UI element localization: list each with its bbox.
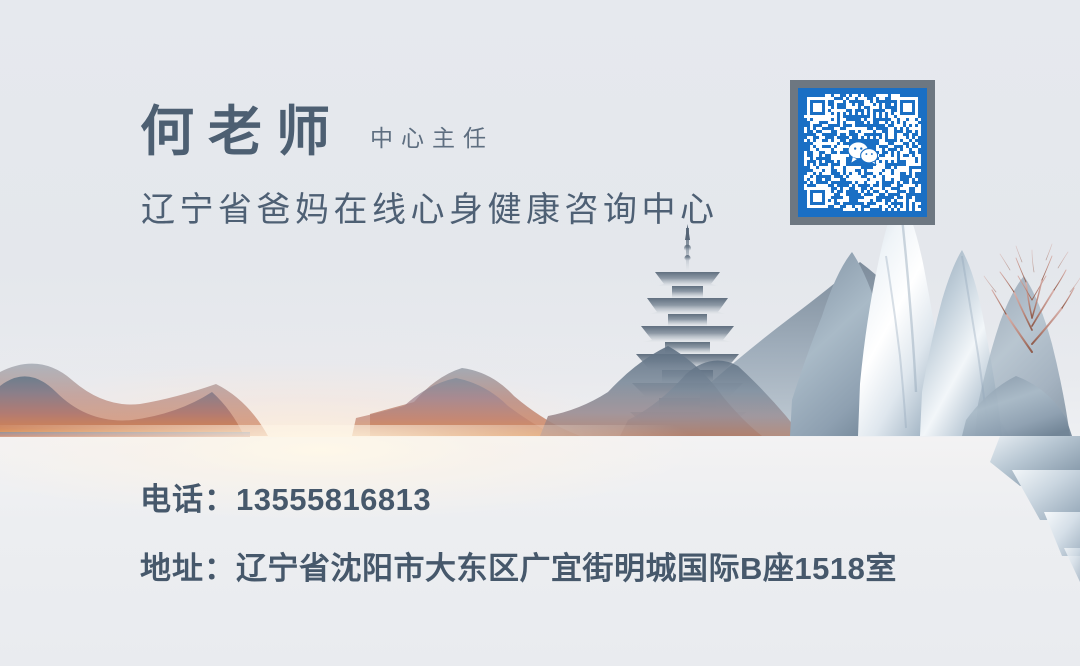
person-name: 何老师 <box>140 105 344 159</box>
wechat-icon <box>848 141 878 165</box>
business-card: 何老师 中心主任 辽宁省爸妈在线心身健康咨询中心 电话：13555816813 … <box>0 0 1080 666</box>
phone-line: 电话：13555816813 <box>140 484 897 515</box>
contact-block: 电话：13555816813 地址：辽宁省沈阳市大东区广宜街明城国际B座1518… <box>140 484 897 584</box>
qr-code-field <box>798 88 927 217</box>
phone-label: 电话： <box>140 482 236 517</box>
phone-value[interactable]: 13555816813 <box>236 482 431 517</box>
wechat-qr-code[interactable] <box>790 80 935 225</box>
person-title: 中心主任 <box>370 127 494 150</box>
identity-row: 何老师 中心主任 <box>140 105 494 159</box>
organization-name: 辽宁省爸妈在线心身健康咨询中心 <box>141 190 719 231</box>
address-label: 地址： <box>140 551 236 586</box>
address-value: 辽宁省沈阳市大东区广宜街明城国际B座1518室 <box>236 551 897 586</box>
address-line: 地址：辽宁省沈阳市大东区广宜街明城国际B座1518室 <box>140 553 897 584</box>
